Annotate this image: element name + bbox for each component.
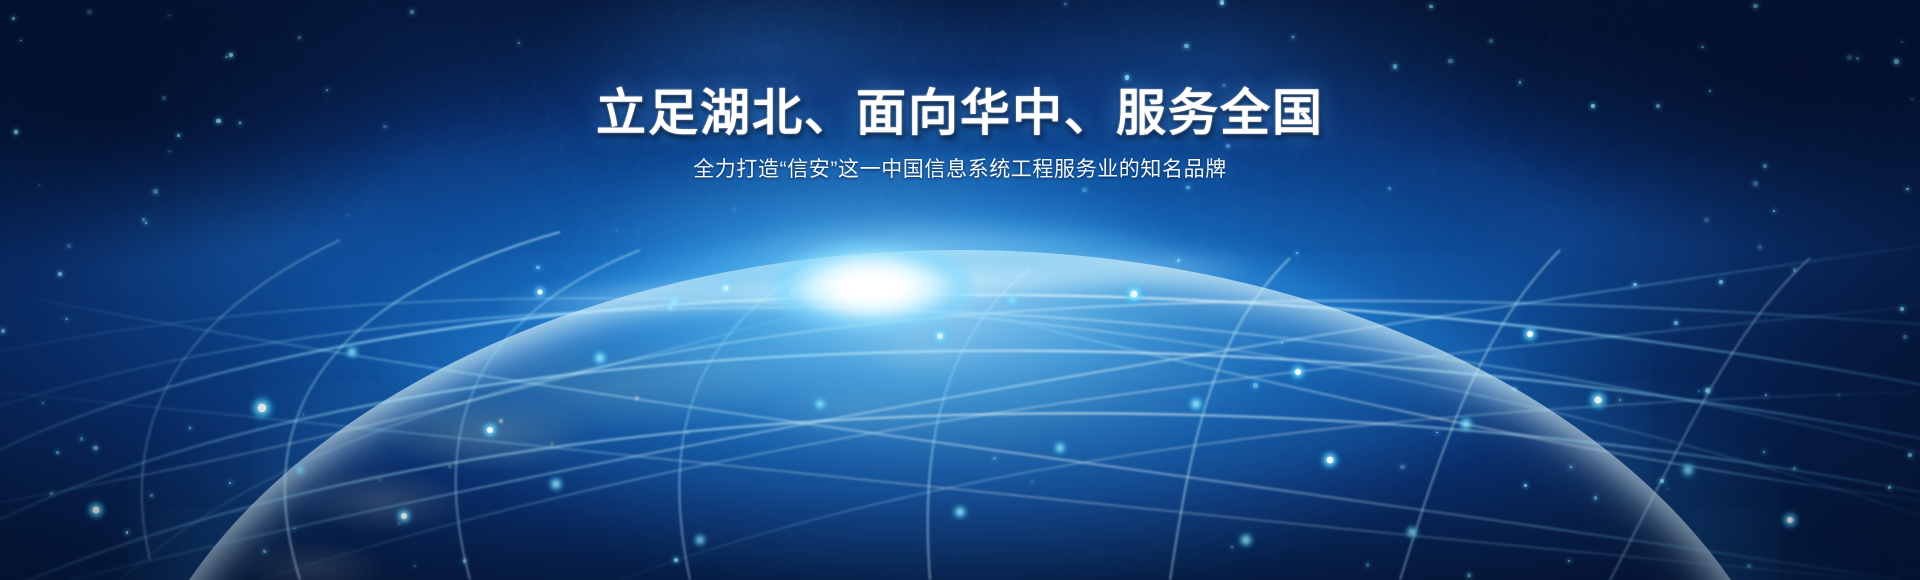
center-flare-core bbox=[767, 241, 977, 333]
banner-subheadline: 全力打造“信安”这一中国信息系统工程服务业的知名品牌 bbox=[0, 156, 1920, 183]
hero-banner: 立足湖北、面向华中、服务全国 全力打造“信安”这一中国信息系统工程服务业的知名品… bbox=[0, 0, 1920, 580]
banner-copy-block: 立足湖北、面向华中、服务全国 全力打造“信安”这一中国信息系统工程服务业的知名品… bbox=[0, 86, 1920, 183]
banner-headline: 立足湖北、面向华中、服务全国 bbox=[0, 86, 1920, 140]
